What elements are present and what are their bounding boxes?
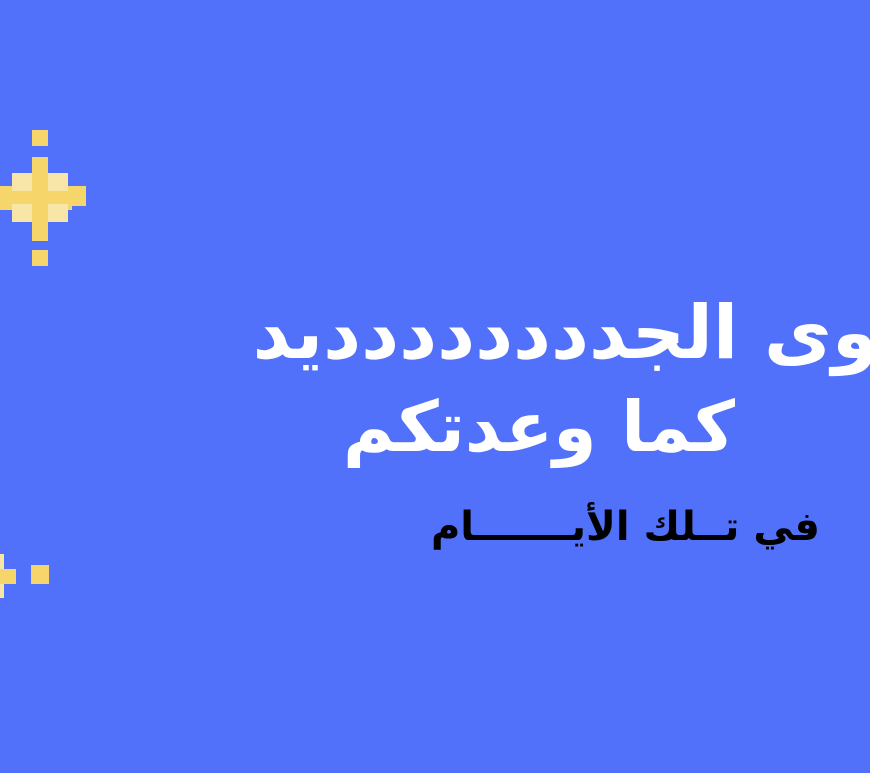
headline-line-1: نوى الجدددددددديد <box>253 296 870 370</box>
text-block: نوى الجدددددددديد كما وعدتكم في تــلك ال… <box>0 0 870 773</box>
subtitle-text: في تــلك الأيـــــــام <box>431 504 820 550</box>
headline-line-2: كما وعدتكم <box>343 392 735 462</box>
slide-canvas: نوى الجدددددددديد كما وعدتكم في تــلك ال… <box>0 0 870 773</box>
